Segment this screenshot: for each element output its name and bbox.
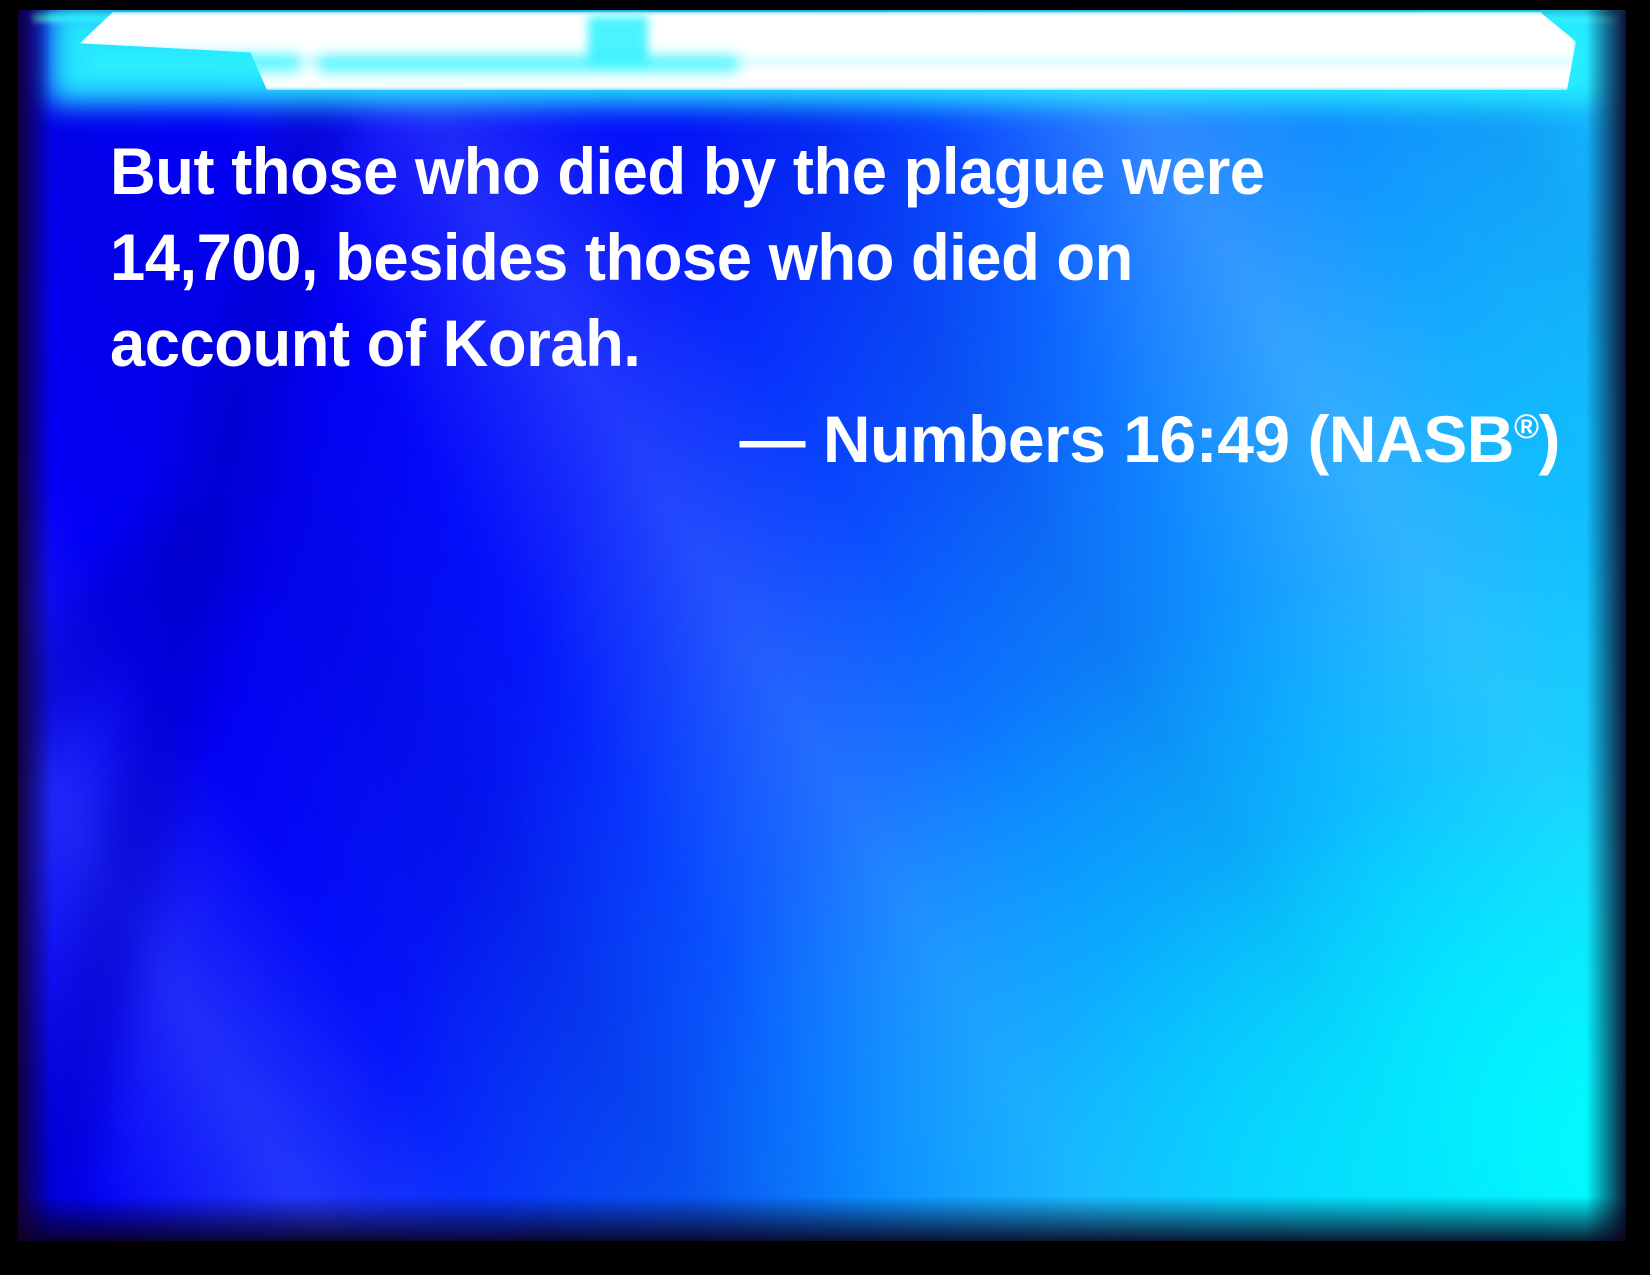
attribution-translation-close: ) xyxy=(1539,402,1560,476)
verse-line-1: But those who died by the plague were xyxy=(110,128,1502,214)
attribution-book: Numbers xyxy=(823,402,1106,476)
attribution-chapter-verse: 16:49 xyxy=(1123,402,1289,476)
slide-background-panel: But those who died by the plague were 14… xyxy=(18,10,1626,1242)
verse-slide: But those who died by the plague were 14… xyxy=(0,0,1650,1275)
top-glow-band xyxy=(18,10,1626,106)
glow-band-notch xyxy=(588,16,648,64)
glow-band-sheen-center xyxy=(318,56,738,72)
glow-band-core xyxy=(80,12,1576,90)
verse-attribution: — Numbers 16:49 (NASB®) xyxy=(110,384,1560,482)
verse-text-block: But those who died by the plague were 14… xyxy=(110,128,1560,386)
verse-line-2: 14,700, besides those who died on xyxy=(110,214,1502,300)
registered-trademark-icon: ® xyxy=(1514,408,1539,446)
attribution-em-dash: — xyxy=(740,402,806,476)
glow-band-sheen-left xyxy=(90,54,300,72)
verse-line-3: account of Korah. xyxy=(110,300,1502,386)
attribution-translation-open: (NASB xyxy=(1307,402,1514,476)
